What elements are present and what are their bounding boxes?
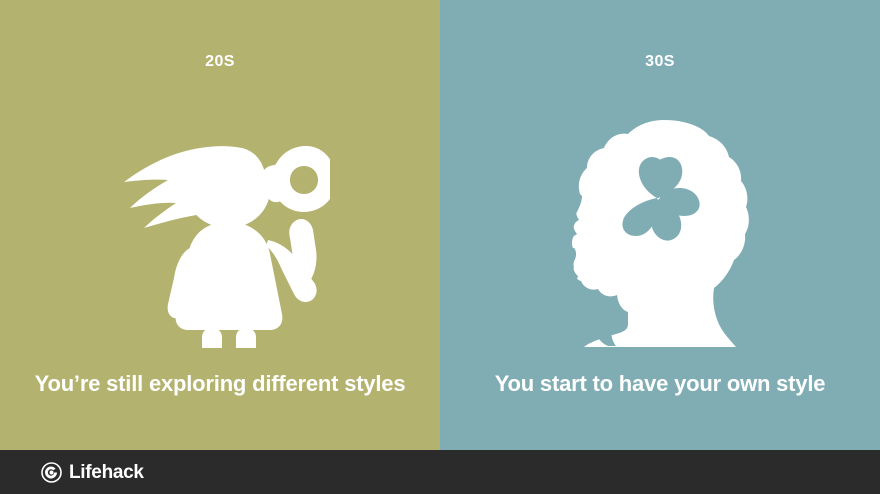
age-label-twenties: 20S — [0, 52, 440, 72]
illustration-twenties — [0, 108, 440, 348]
head-profile-with-pinwheel-icon — [560, 118, 760, 348]
panel-twenties: 20S — [0, 0, 440, 450]
illustration-thirties — [440, 108, 880, 348]
brand-lockup[interactable]: Lifehack — [41, 462, 144, 483]
age-label-thirties: 30S — [440, 52, 880, 72]
caption-twenties: You’re still exploring different styles — [0, 370, 440, 398]
footer-bar: Lifehack — [0, 450, 880, 494]
infographic-canvas: 20S — [0, 0, 880, 494]
lifehack-circle-logo-icon — [41, 462, 62, 483]
winged-woman-with-mirror-icon — [110, 118, 330, 348]
caption-thirties: You start to have your own style — [440, 370, 880, 398]
panel-thirties: 30S — [440, 0, 880, 450]
brand-name: Lifehack — [69, 463, 144, 482]
comparison-panels: 20S — [0, 0, 880, 450]
